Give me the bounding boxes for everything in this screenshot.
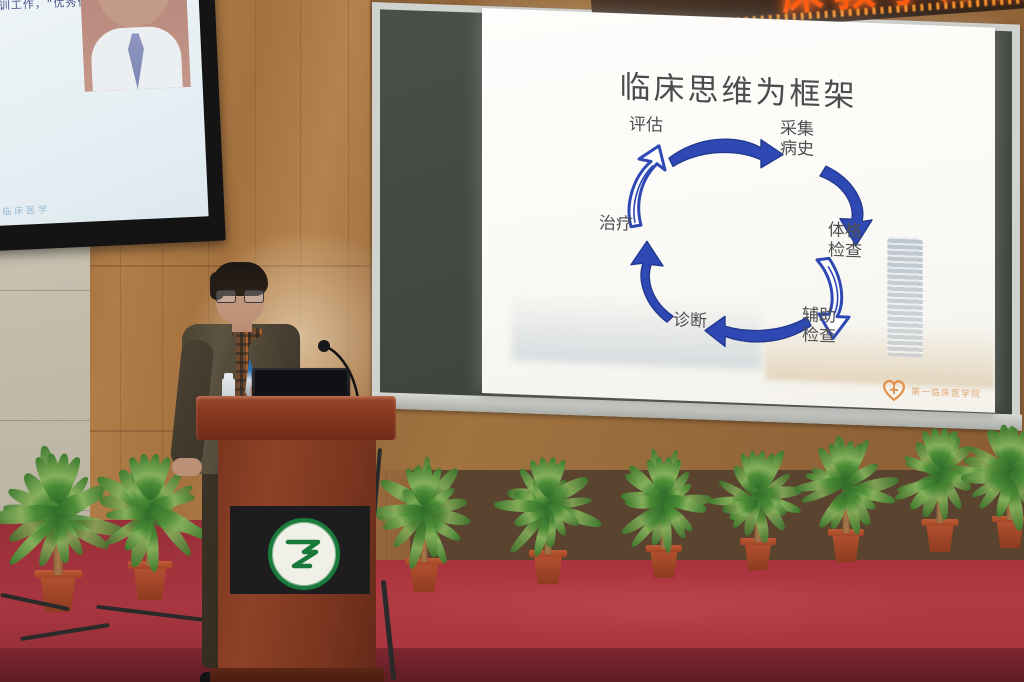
potted-plant [953, 406, 1024, 549]
cycle-node-physical: 体格 检查 [825, 220, 865, 262]
terracotta-pot [830, 533, 863, 562]
projection-screen: 临床思维为框架 [482, 8, 995, 413]
hospital-logo-text: 第一临床医学院 [911, 384, 981, 400]
terracotta-pot [130, 566, 169, 601]
cycle-node-assess: 评估 [629, 115, 663, 136]
university-emblem [268, 518, 340, 590]
terracotta-pot [923, 523, 956, 552]
plant-leaf [494, 499, 548, 512]
lectern-top [196, 396, 396, 440]
potted-plant [488, 434, 608, 584]
slide-title: 临床思维为框架 [482, 56, 995, 121]
cycle-node-auxiliary: 辅助 检查 [799, 305, 839, 347]
lectern [196, 396, 396, 682]
microphone-head [318, 340, 330, 352]
clinical-cycle-diagram: 评估 采集 病史 体格 检查 辅助 检查 诊断 治疗 [577, 107, 907, 370]
portrait-photo [79, 0, 191, 92]
secondary-display-subtext: 临床医学 [2, 202, 51, 217]
heart-icon [881, 378, 907, 401]
lectern-emblem-plate [230, 506, 370, 594]
emblem-mark-icon [284, 538, 324, 570]
arrow-assess-to-history [665, 128, 785, 177]
terracotta-pot [531, 554, 565, 584]
terracotta-pot [648, 549, 681, 578]
cycle-node-treatment: 治疗 [599, 213, 633, 234]
portrait-face [96, 0, 171, 29]
gooseneck-microphone [318, 340, 364, 400]
lecture-hall-photo: 床教学师资培 临床思维为框架 [0, 0, 1024, 682]
secondary-display-frame: 培训工作，“优秀住培 临床医学 [0, 0, 226, 251]
stage-front-edge [0, 648, 1024, 682]
arrow-diagnosis-to-treatment [619, 236, 679, 326]
secondary-display-screen: 培训工作，“优秀住培 临床医学 [0, 0, 209, 226]
glasses-icon [216, 290, 264, 301]
cycle-node-history: 采集 病史 [777, 118, 817, 160]
terracotta-pot [742, 542, 774, 570]
hospital-logo: 第一临床医学院 [881, 378, 981, 404]
lectern-base [210, 668, 384, 682]
cycle-node-diagnosis: 诊断 [673, 310, 707, 331]
